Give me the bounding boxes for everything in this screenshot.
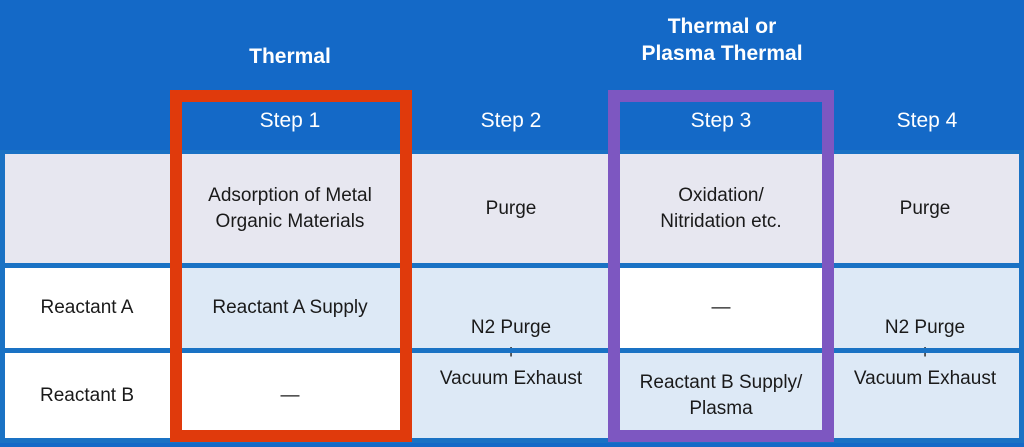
group-caption-thermal: Thermal [170, 44, 410, 71]
diagram-canvas: Thermal Thermal orPlasma Thermal Step 1 … [0, 0, 1024, 447]
cell-reactant-b-step-3: Reactant B Supply/Plasma [612, 353, 830, 438]
row-label-reactant-a: Reactant A [4, 268, 170, 348]
column-header-step-2: Step 2 [410, 110, 612, 131]
grid-line-row1-row2 [0, 263, 1024, 268]
column-header-step-1: Step 1 [170, 110, 410, 131]
cell-purge-step-2: N2 Purge+Vacuum Exhaust [410, 268, 612, 438]
cell-reactant-a-step-1: Reactant A Supply [170, 268, 410, 348]
grid-line-right-edge [1019, 150, 1024, 442]
cell-reactant-a-step-3: — [612, 268, 830, 348]
cell-process-step-4: Purge [830, 154, 1020, 263]
grid-line-top [0, 150, 1024, 154]
cell-reactant-b-step-1: — [170, 353, 410, 438]
process-table: Adsorption of MetalOrganic Materials Pur… [0, 150, 1024, 442]
row-label-process [4, 154, 170, 263]
grid-line-left-edge [0, 150, 5, 442]
cell-process-step-2: Purge [410, 154, 612, 263]
cell-process-step-1: Adsorption of MetalOrganic Materials [170, 154, 410, 263]
cell-process-step-3: Oxidation/Nitridation etc. [612, 154, 830, 263]
grid-line-row2-row3 [0, 348, 1024, 353]
grid-line-bottom [0, 438, 1024, 443]
group-caption-thermal-or-plasma-thermal: Thermal orPlasma Thermal [612, 14, 832, 68]
row-label-reactant-b: Reactant B [4, 353, 170, 438]
column-header-step-4: Step 4 [830, 110, 1024, 131]
cell-purge-step-4: N2 Purge+Vacuum Exhaust [830, 268, 1020, 438]
column-header-step-3: Step 3 [612, 110, 830, 131]
